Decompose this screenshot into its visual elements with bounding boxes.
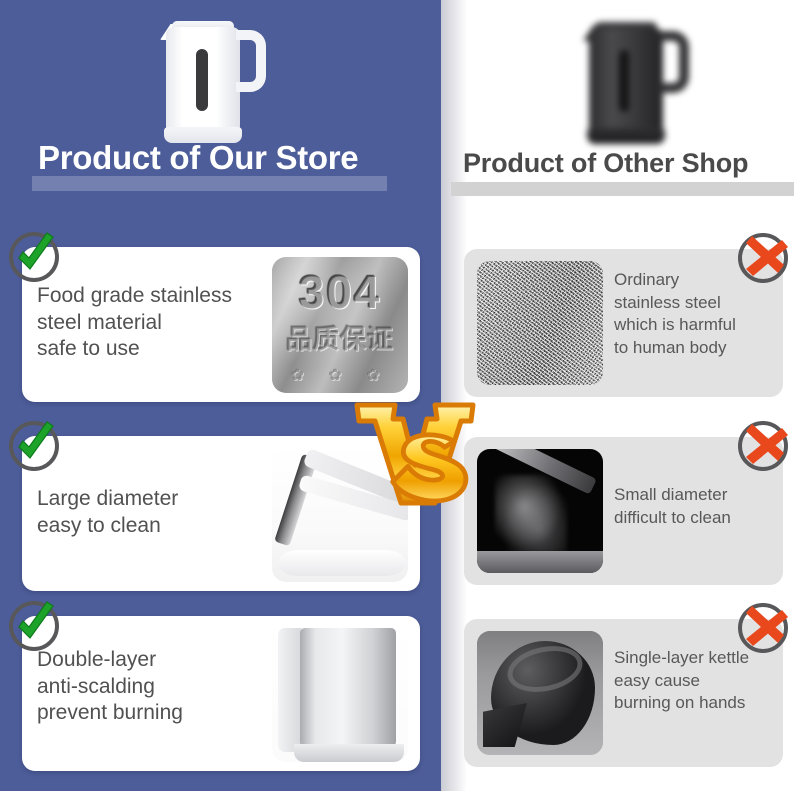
white-electric-kettle-icon — [152, 5, 292, 147]
steel-texture: 品质保证 ✿ ✿ ✿ 304 — [272, 257, 408, 393]
double-layer-steel-body-image — [272, 626, 408, 762]
kettle-rim — [278, 550, 406, 576]
ordinary-steel-texture-image — [477, 261, 603, 385]
kettle-foot — [294, 744, 404, 762]
kettle-handle — [659, 31, 689, 93]
orange-cross-icon — [735, 230, 791, 286]
good-feature-card[interactable]: Food grade stainless steel material safe… — [22, 247, 420, 402]
orange-cross-icon — [735, 600, 791, 656]
good-feature-text: Large diameter easy to clean — [37, 486, 267, 539]
kettle-spout-dark — [483, 703, 527, 747]
rough-steel-texture — [477, 261, 603, 385]
black-electric-kettle-icon — [575, 6, 725, 146]
comparison-infographic: Product of Our Store Product of Other Sh… — [0, 0, 800, 800]
bad-feature-text: Single-layer kettle easy cause burning o… — [614, 647, 774, 715]
steel-stamp-main-text: 304 — [272, 265, 408, 319]
black-kettle-photo — [477, 631, 603, 755]
kettle-water-window — [619, 50, 629, 112]
bad-feature-text: Small diameter difficult to clean — [614, 484, 774, 529]
steam-cloud — [495, 475, 567, 553]
good-feature-text: Double-layer anti-scalding prevent burni… — [37, 647, 267, 727]
left-title-underline-bar — [32, 176, 387, 191]
kettle-base — [587, 128, 665, 144]
right-title-underline-bar — [451, 182, 794, 196]
kettle-handle — [236, 30, 266, 92]
versus-emblem — [349, 399, 489, 521]
steel-body-photo — [272, 626, 408, 762]
narrow-mouth-steaming-kettle-image — [477, 449, 603, 573]
steel-stamp-stars: ✿ ✿ ✿ — [272, 365, 408, 385]
steel-stamp-sub-text: 品质保证 — [272, 319, 408, 356]
green-check-icon — [6, 598, 62, 654]
steam-photo — [477, 449, 603, 573]
steel-cylinder — [300, 628, 396, 750]
green-check-icon — [6, 418, 62, 474]
kettle-water-window — [196, 49, 208, 111]
kettle-plate — [477, 551, 603, 573]
left-panel-title: Product of Our Store — [38, 139, 358, 177]
good-feature-card[interactable]: Double-layer anti-scalding prevent burni… — [22, 616, 420, 771]
kettle-handle-part — [278, 628, 302, 752]
right-panel-title: Product of Other Shop — [463, 148, 748, 179]
green-check-icon — [6, 229, 62, 285]
orange-cross-icon — [735, 418, 791, 474]
stainless-steel-304-stamp-image: 品质保证 ✿ ✿ ✿ 304 — [272, 257, 408, 393]
good-feature-text: Food grade stainless steel material safe… — [37, 283, 267, 363]
single-layer-black-kettle-image — [477, 631, 603, 755]
